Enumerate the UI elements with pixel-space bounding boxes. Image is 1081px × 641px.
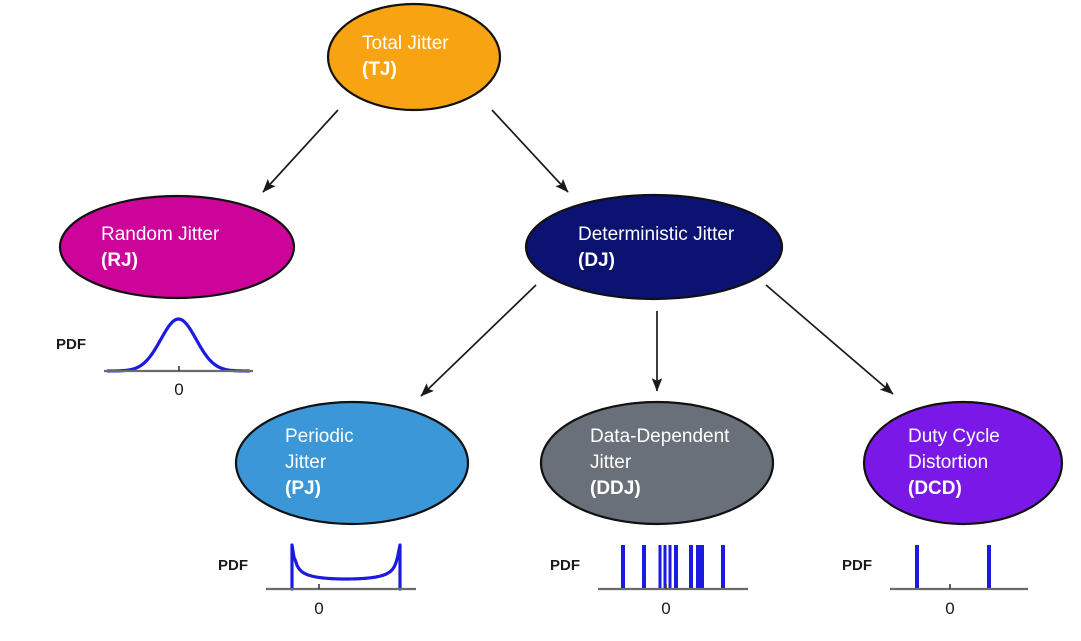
deterministic-jitter-ellipse[interactable] — [526, 195, 782, 299]
pdf-plot-duty-cycle-distortion: PDF0 — [842, 545, 1028, 618]
deterministic-jitter-label-line-0: Deterministic Jitter — [578, 224, 735, 245]
duty-cycle-distortion-label-line-2: (DCD) — [908, 478, 962, 499]
pdf-plot-data-dependent-jitter-impulse-8 — [721, 545, 725, 589]
deterministic-jitter-label-line-1: (DJ) — [578, 250, 615, 271]
random-jitter-label-line-0: Random Jitter — [101, 224, 220, 245]
random-jitter-label-line-1: (RJ) — [101, 250, 138, 271]
data-dependent-jitter-label-line-0: Data-Dependent — [590, 426, 730, 447]
random-jitter-ellipse[interactable] — [60, 196, 294, 298]
pdf-plot-data-dependent-jitter-impulse-7 — [696, 545, 704, 589]
edge-dj-to-dcd — [766, 285, 893, 394]
edge-dj-to-pj — [421, 285, 536, 396]
pdf-plot-data-dependent-jitter: PDF0 — [550, 545, 748, 618]
periodic-jitter-ellipse[interactable] — [236, 402, 468, 524]
pdf-plot-duty-cycle-distortion-caption: PDF — [842, 557, 872, 574]
node-data-dependent-jitter[interactable]: Data-DependentJitter(DDJ) — [541, 402, 773, 524]
pdf-plot-periodic-jitter-bathtub-trace — [292, 545, 400, 589]
node-total-jitter[interactable]: Total Jitter(TJ) — [328, 4, 500, 110]
duty-cycle-distortion-label-line-0: Duty Cycle — [908, 426, 1000, 447]
pdf-plot-data-dependent-jitter-impulse-6 — [689, 545, 693, 589]
pdf-plot-data-dependent-jitter-impulse-1 — [642, 545, 646, 589]
pdf-plot-data-dependent-jitter-impulse-5 — [674, 545, 678, 589]
diagram-canvas: Total Jitter(TJ)Random Jitter(RJ)Determi… — [0, 0, 1081, 641]
nodes-group: Total Jitter(TJ)Random Jitter(RJ)Determi… — [60, 4, 1062, 524]
periodic-jitter-label-line-2: (PJ) — [285, 478, 321, 499]
pdf-plot-random-jitter-gaussian-trace — [108, 319, 249, 371]
edge-tj-to-dj — [492, 110, 568, 192]
data-dependent-jitter-ellipse[interactable] — [541, 402, 773, 524]
pdf-plot-random-jitter-zero-label: 0 — [174, 380, 183, 399]
pdf-plot-periodic-jitter-zero-label: 0 — [314, 599, 323, 618]
edge-tj-to-rj — [263, 110, 338, 192]
pdf-plot-data-dependent-jitter-impulse-4 — [669, 545, 672, 589]
node-random-jitter[interactable]: Random Jitter(RJ) — [60, 196, 294, 298]
total-jitter-label-line-1: (TJ) — [362, 59, 397, 80]
pdf-plot-periodic-jitter: PDF0 — [218, 545, 416, 618]
periodic-jitter-label-line-1: Jitter — [285, 452, 327, 473]
pdf-plot-data-dependent-jitter-zero-label: 0 — [661, 599, 670, 618]
node-deterministic-jitter[interactable]: Deterministic Jitter(DJ) — [526, 195, 782, 299]
pdf-plot-random-jitter: PDF0 — [56, 319, 253, 399]
pdf-plot-duty-cycle-distortion-impulse-1 — [987, 545, 991, 589]
periodic-jitter-label-line-0: Periodic — [285, 426, 354, 447]
pdf-plot-random-jitter-caption: PDF — [56, 336, 86, 353]
data-dependent-jitter-label-line-1: Jitter — [590, 452, 632, 473]
pdf-plot-duty-cycle-distortion-zero-label: 0 — [945, 599, 954, 618]
node-periodic-jitter[interactable]: PeriodicJitter(PJ) — [236, 402, 468, 524]
pdf-plot-data-dependent-jitter-impulse-0 — [621, 545, 625, 589]
total-jitter-label-line-0: Total Jitter — [362, 33, 449, 54]
data-dependent-jitter-label-line-2: (DDJ) — [590, 478, 641, 499]
pdf-plot-data-dependent-jitter-impulse-3 — [664, 545, 667, 589]
node-duty-cycle-distortion[interactable]: Duty CycleDistortion(DCD) — [864, 402, 1062, 524]
pdf-plot-duty-cycle-distortion-impulse-0 — [915, 545, 919, 589]
pdf-plot-data-dependent-jitter-caption: PDF — [550, 557, 580, 574]
total-jitter-ellipse[interactable] — [328, 4, 500, 110]
pdf-plot-data-dependent-jitter-impulse-2 — [659, 545, 662, 589]
jitter-decomposition-diagram: Total Jitter(TJ)Random Jitter(RJ)Determi… — [0, 0, 1081, 641]
pdf-plot-periodic-jitter-caption: PDF — [218, 557, 248, 574]
duty-cycle-distortion-label-line-1: Distortion — [908, 452, 988, 473]
